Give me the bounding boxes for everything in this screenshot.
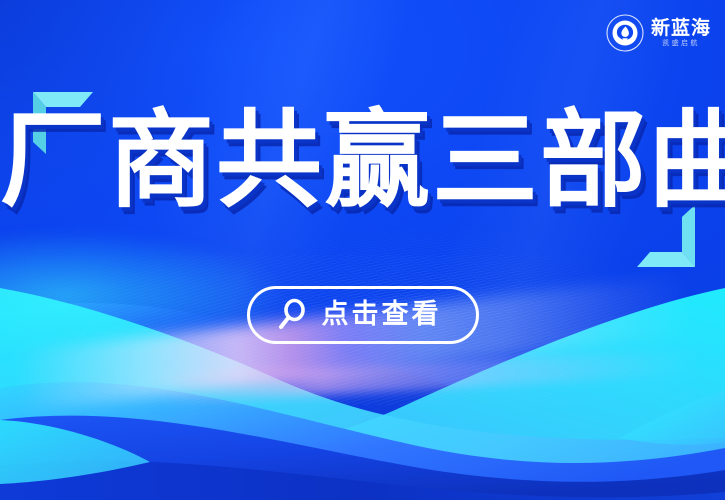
promo-banner: 厂商共赢三部曲 点击查看 新蓝海 凯盛启航 <box>0 0 725 500</box>
view-details-button-label: 点击查看 <box>322 301 442 328</box>
brand-name: 新蓝海 <box>651 19 711 38</box>
circular-emblem-icon <box>606 14 644 52</box>
page-title: 厂商共赢三部曲 <box>0 108 725 214</box>
brand-logo[interactable]: 新蓝海 凯盛启航 <box>606 14 711 52</box>
view-details-button[interactable]: 点击查看 <box>247 286 479 344</box>
brand-tagline: 凯盛启航 <box>662 40 700 47</box>
brand-logo-text: 新蓝海 凯盛启航 <box>651 19 711 47</box>
magnifier-icon <box>278 298 308 330</box>
